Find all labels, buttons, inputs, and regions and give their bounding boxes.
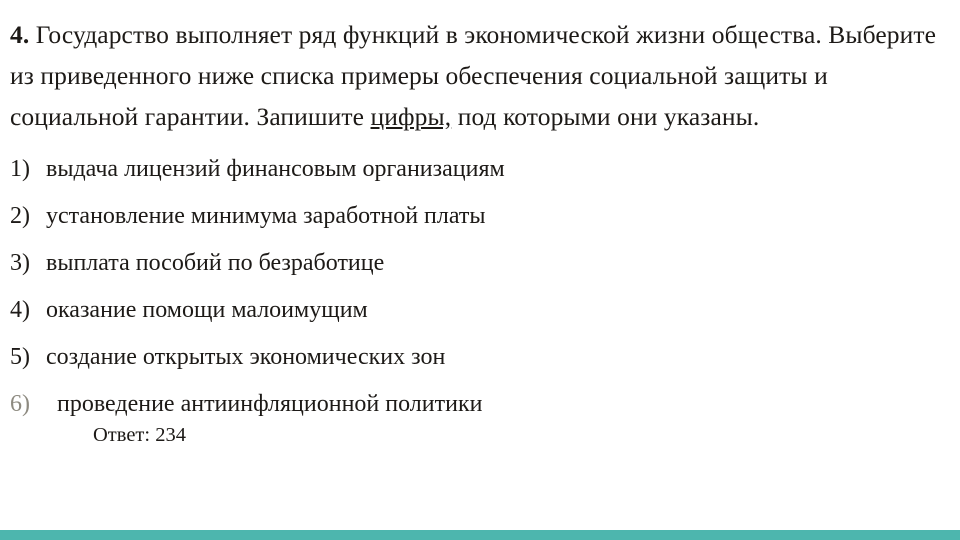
option-label: проведение антиинфляционной политики	[46, 389, 950, 419]
option-marker: 3)	[10, 248, 46, 278]
list-item[interactable]: 4) оказание помощи малоимущим	[10, 295, 950, 325]
option-label: выплата пособий по безработице	[46, 248, 950, 278]
option-label: оказание помощи малоимущим	[46, 295, 950, 325]
question-number: 4.	[10, 20, 29, 49]
option-label: создание открытых экономических зон	[46, 342, 950, 372]
option-marker: 4)	[10, 295, 46, 325]
question-underlined-word: цифры,	[371, 102, 452, 131]
answer-row: Ответ: 234	[10, 421, 950, 449]
option-label: выдача лицензий финансовым организациям	[46, 154, 950, 184]
question-text-part-2: под которыми они указаны.	[451, 102, 759, 131]
slide-canvas: 4. Государство выполняет ряд функций в э…	[0, 0, 960, 540]
option-marker: 2)	[10, 201, 46, 231]
option-label: установление минимума заработной платы	[46, 201, 950, 231]
slide-content: 4. Государство выполняет ряд функций в э…	[0, 0, 960, 540]
option-marker: 1)	[10, 154, 46, 184]
option-marker: 5)	[10, 342, 46, 372]
bottom-accent-bar	[0, 530, 960, 540]
list-item[interactable]: 3) выплата пособий по безработице	[10, 248, 950, 278]
list-item[interactable]: 5) создание открытых экономических зон	[10, 342, 950, 372]
options-list: 1) выдача лицензий финансовым организаци…	[10, 154, 950, 419]
answer-label: Ответ:	[93, 421, 155, 449]
answer-value: 234	[155, 421, 186, 449]
list-item[interactable]: 6) проведение антиинфляционной политики	[10, 389, 950, 419]
option-marker: 6)	[10, 389, 46, 419]
list-item[interactable]: 1) выдача лицензий финансовым организаци…	[10, 154, 950, 184]
list-item[interactable]: 2) установление минимума заработной плат…	[10, 201, 950, 231]
question-prompt: 4. Государство выполняет ряд функций в э…	[10, 14, 950, 137]
